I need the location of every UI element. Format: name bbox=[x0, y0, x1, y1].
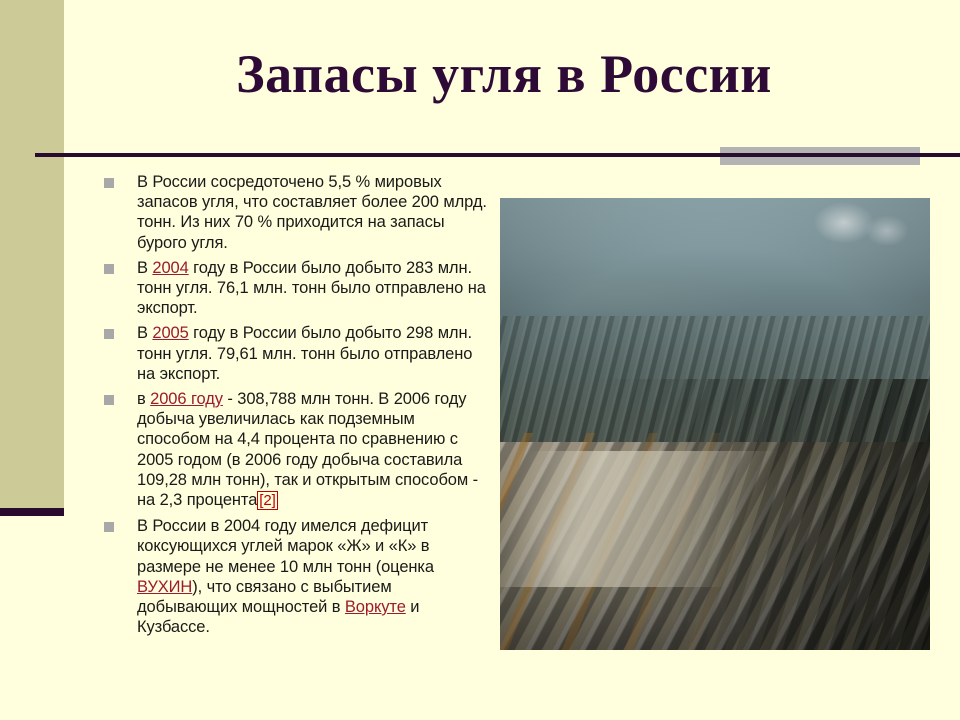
bullet-square-icon bbox=[104, 264, 114, 274]
bullet-text: В России в 2004 году имелся дефицит кокс… bbox=[137, 517, 434, 636]
bullet-text: В России сосредоточено 5,5 % мировых зап… bbox=[137, 173, 487, 252]
reference-link[interactable]: [2] bbox=[257, 491, 277, 510]
text-run: в bbox=[137, 390, 150, 408]
text-run: В России сосредоточено 5,5 % мировых зап… bbox=[137, 173, 487, 252]
slide: Запасы угля в России В России сосредоточ… bbox=[0, 0, 960, 720]
left-band-footer-bar bbox=[0, 508, 64, 516]
left-decorative-band bbox=[0, 0, 64, 510]
coal-mine-photo bbox=[500, 198, 930, 650]
bullet-coking-deficit: В России в 2004 году имелся дефицит кокс… bbox=[100, 516, 492, 637]
bullet-square-icon bbox=[104, 178, 114, 188]
hyperlink[interactable]: 2004 bbox=[152, 259, 188, 277]
hyperlink[interactable]: 2005 bbox=[152, 324, 188, 342]
text-run: В России в 2004 году имелся дефицит кокс… bbox=[137, 517, 434, 575]
bullet-text: в 2006 году - 308,788 млн тонн. В 2006 г… bbox=[137, 390, 478, 509]
bullet-list: В России сосредоточено 5,5 % мировых зап… bbox=[100, 172, 492, 642]
bullet-2006: в 2006 году - 308,788 млн тонн. В 2006 г… bbox=[100, 389, 492, 511]
hyperlink[interactable]: ВУХИН bbox=[137, 578, 192, 596]
text-run: В bbox=[137, 324, 152, 342]
page-title: Запасы угля в России bbox=[64, 44, 944, 104]
bullet-square-icon bbox=[104, 395, 114, 405]
bullet-2005: В 2005 году в России было добыто 298 млн… bbox=[100, 323, 492, 384]
bullet-square-icon bbox=[104, 329, 114, 339]
bullet-2004: В 2004 году в России было добыто 283 млн… bbox=[100, 258, 492, 319]
photo-image bbox=[500, 198, 930, 650]
title-rule-line bbox=[35, 153, 960, 157]
bullet-text: В 2004 году в России было добыто 283 млн… bbox=[137, 259, 486, 317]
bullet-text: В 2005 году в России было добыто 298 млн… bbox=[137, 324, 472, 382]
bullet-square-icon bbox=[104, 522, 114, 532]
bullet-reserves-share: В России сосредоточено 5,5 % мировых зап… bbox=[100, 172, 492, 253]
text-run: году в России было добыто 283 млн. тонн … bbox=[137, 259, 486, 317]
photo-colour-grade-layer bbox=[500, 198, 930, 650]
text-run: В bbox=[137, 259, 152, 277]
hyperlink[interactable]: Воркуте bbox=[345, 598, 406, 616]
hyperlink[interactable]: 2006 году bbox=[150, 390, 223, 408]
